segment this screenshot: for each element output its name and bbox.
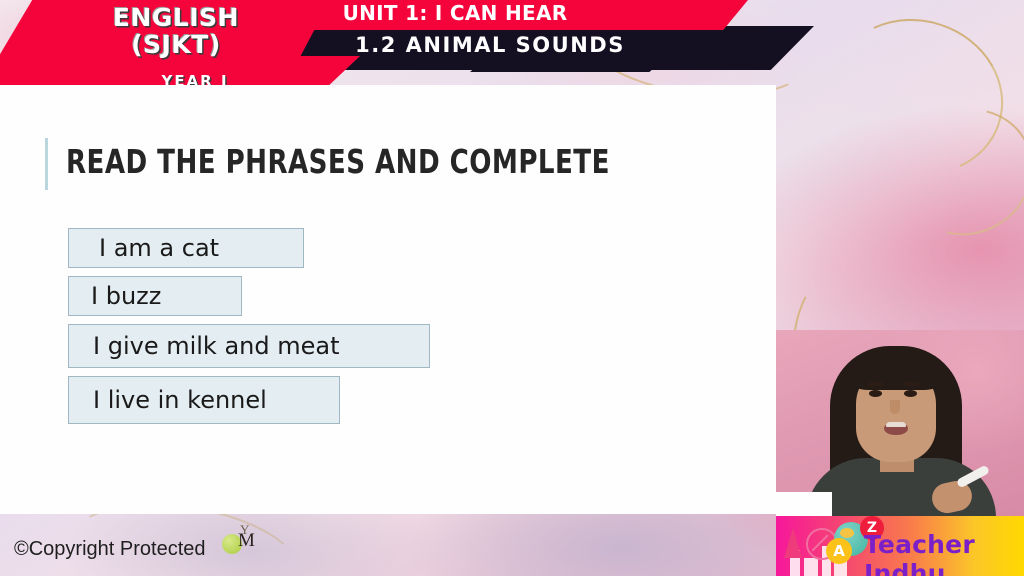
slide-stage: ENGLISH (SJKT) YEAR I UNIT 1: I CAN HEAR…: [0, 0, 1024, 576]
phrase-list: I am a catI buzzI give milk and meatI li…: [68, 228, 430, 432]
lesson-title: 1.2 ANIMAL SOUNDS: [300, 33, 680, 57]
copyright-text: ©Copyright Protected: [14, 538, 206, 561]
subject-title: ENGLISH (SJKT): [76, 4, 276, 58]
presenter-teeth: [886, 422, 906, 427]
phrase-text: I am a cat: [99, 234, 219, 262]
phrase-box[interactable]: I am a cat: [68, 228, 304, 268]
phrase-box[interactable]: I give milk and meat: [68, 324, 430, 368]
presenter-nose: [890, 400, 900, 414]
phrase-box[interactable]: I buzz: [68, 276, 242, 316]
presenter-eye: [904, 390, 917, 397]
slide-corner-notch: [776, 492, 832, 518]
eiffel-tower-icon: [784, 528, 802, 558]
presenter-webcam: [776, 330, 1024, 516]
unit-title: UNIT 1: I CAN HEAR: [290, 1, 620, 25]
page-title: READ THE PHRASES AND COMPLETE: [66, 142, 610, 181]
presenter-fringe: [852, 356, 940, 390]
presenter-eye: [869, 390, 882, 397]
presenter-name: Teacher Indhu: [864, 530, 1024, 576]
phrase-text: I live in kennel: [93, 386, 267, 414]
phrase-text: I buzz: [91, 282, 161, 310]
presenter-name-bar: A Z Teacher Indhu: [776, 516, 1024, 576]
header-banner: ENGLISH (SJKT) YEAR I UNIT 1: I CAN HEAR…: [0, 0, 1024, 90]
globe-icon-detail: [840, 528, 854, 538]
subject-line-2: (SJKT): [76, 31, 276, 58]
cityscape-icon: [804, 558, 818, 576]
letter-a-badge-icon: A: [826, 538, 852, 564]
phrase-box[interactable]: I live in kennel: [68, 376, 340, 424]
title-accent-bar: [45, 138, 48, 190]
logo-letter-m: M: [238, 531, 255, 551]
subject-line-1: ENGLISH: [76, 4, 276, 31]
phrase-text: I give milk and meat: [93, 332, 340, 360]
